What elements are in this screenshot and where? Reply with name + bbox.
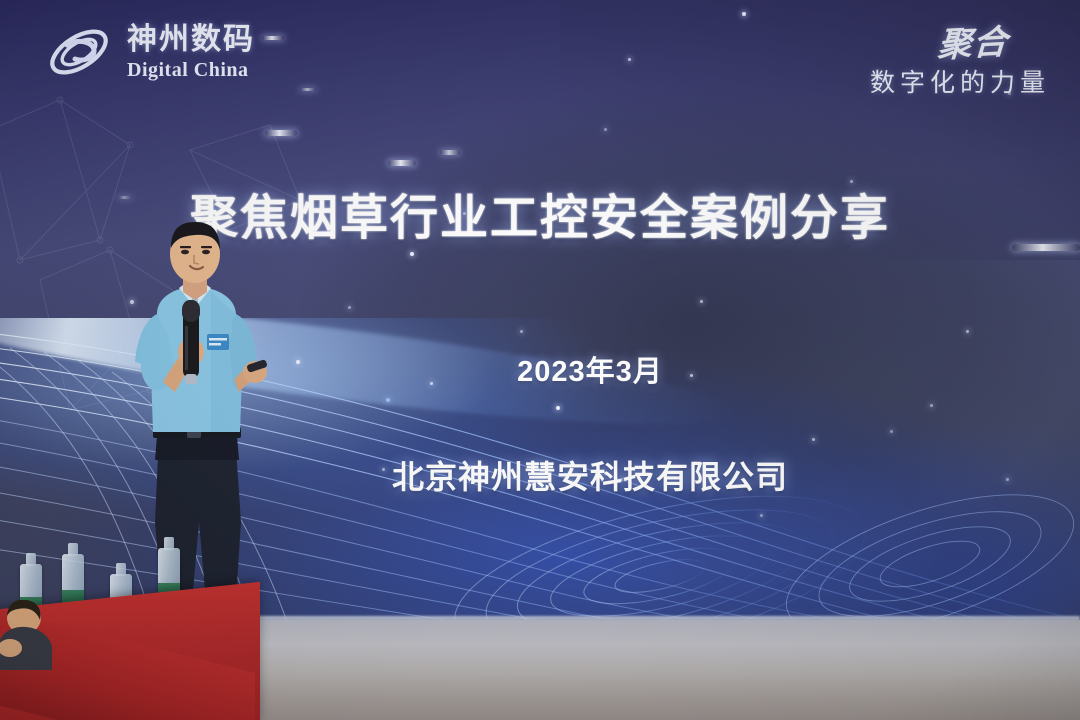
- logo-chinese-name: 神州数码: [127, 25, 255, 55]
- event-logo-tagline: 数字化的力量: [870, 63, 1050, 99]
- digital-china-swirl-icon: [45, 22, 117, 82]
- microphone: [182, 300, 200, 384]
- digital-china-logo: 神州数码 Digital China: [45, 22, 255, 82]
- conference-stage-photo: 神州数码 Digital China 聚合 数字化的力量 聚焦烟草行业工控安全案…: [0, 0, 1080, 720]
- logo-english-name: Digital China: [127, 60, 255, 80]
- event-logo: 聚合 数字化的力量: [870, 16, 1050, 99]
- event-logo-calligraphy: 聚合: [937, 14, 1010, 67]
- speaker-chest-logo: [207, 334, 229, 350]
- seated-attendee: [0, 600, 64, 670]
